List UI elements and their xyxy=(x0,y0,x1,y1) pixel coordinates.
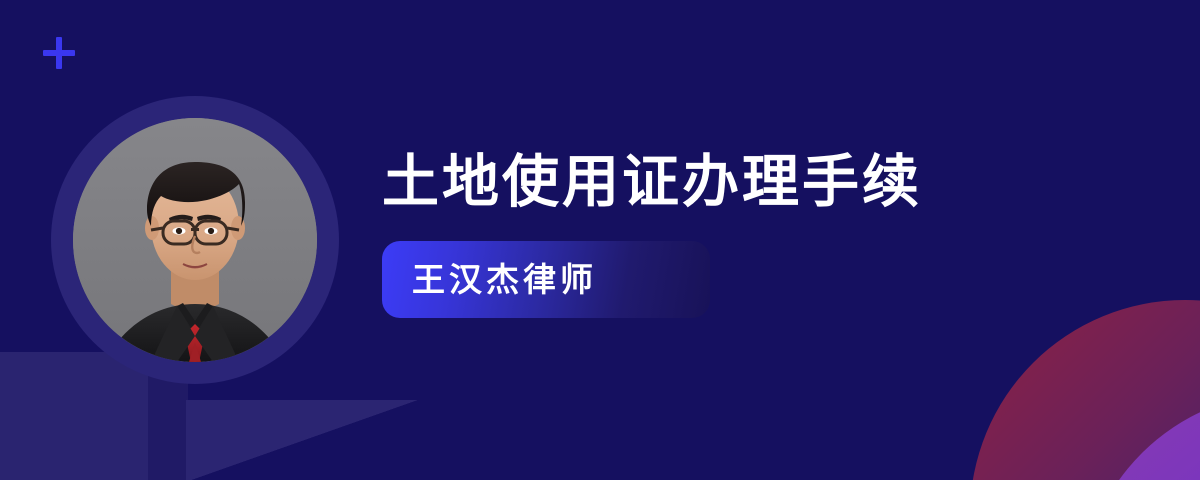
page-title: 土地使用证办理手续 xyxy=(382,150,1082,216)
decor-arc-purple xyxy=(1080,392,1200,480)
decor-left-triangle xyxy=(186,400,418,480)
avatar xyxy=(73,118,317,362)
decor-left-block xyxy=(0,352,148,480)
article-banner: 土地使用证办理手续 王汉杰律师 xyxy=(0,0,1200,480)
banner-content: 土地使用证办理手续 王汉杰律师 xyxy=(382,150,1082,318)
decor-arc-maroon xyxy=(970,300,1200,480)
decor-left-column xyxy=(148,368,188,480)
author-name-badge[interactable]: 王汉杰律师 xyxy=(382,241,710,318)
plus-icon xyxy=(43,37,75,69)
